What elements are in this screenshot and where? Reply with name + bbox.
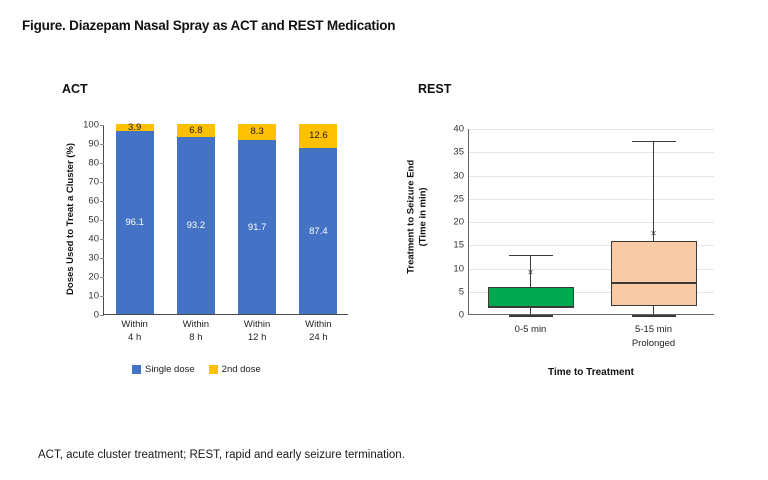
- act-bar-segment-single-dose[interactable]: 93.2: [177, 137, 215, 314]
- act-bar-label-2nd-dose: 12.6: [309, 130, 328, 141]
- act-bar-segment-2nd-dose[interactable]: 6.8: [177, 124, 215, 137]
- rest-y-axis-title: Treatment to Seizure End (Time in min): [406, 129, 430, 304]
- act-y-tick-label: 90: [88, 139, 99, 150]
- act-bar-segment-single-dose[interactable]: 91.7: [238, 140, 276, 314]
- rest-y-tick-label: 15: [453, 240, 464, 251]
- act-y-tick-mark: [100, 277, 104, 278]
- act-y-tick-label: 50: [88, 215, 99, 226]
- act-stacked-bar[interactable]: 8.391.7: [238, 124, 276, 314]
- act-bar-label-single-dose: 96.1: [125, 217, 144, 228]
- act-y-tick-mark: [100, 239, 104, 240]
- act-y-tick-mark: [100, 315, 104, 316]
- act-y-axis-title: Doses Used to Treat a Cluster (%): [65, 124, 77, 314]
- rest-x-category-label: 5-15 min Prolonged: [594, 323, 714, 351]
- act-legend-item[interactable]: 2nd dose: [209, 364, 261, 375]
- rest-x-axis-title: Time to Treatment: [468, 367, 714, 378]
- act-y-tick-label: 40: [88, 234, 99, 245]
- rest-median-line: [611, 282, 697, 284]
- rest-panel-header: REST: [418, 82, 451, 96]
- rest-box-rect[interactable]: [611, 241, 697, 306]
- act-plot-area: 01020304050607080901003.996.1Within 4 h6…: [103, 125, 348, 315]
- act-y-tick-label: 80: [88, 158, 99, 169]
- act-y-tick-mark: [100, 258, 104, 259]
- act-y-tick-label: 60: [88, 196, 99, 207]
- act-y-tick-label: 10: [88, 291, 99, 302]
- act-y-tick-mark: [100, 220, 104, 221]
- act-bar-segment-2nd-dose[interactable]: 12.6: [299, 124, 337, 148]
- act-y-tick-mark: [100, 296, 104, 297]
- rest-y-tick-label: 35: [453, 147, 464, 158]
- legend-swatch-icon: [132, 365, 141, 374]
- rest-x-category-label: 0-5 min: [471, 323, 591, 337]
- legend-swatch-icon: [209, 365, 218, 374]
- act-y-tick-mark: [100, 182, 104, 183]
- rest-y-tick-label: 5: [459, 286, 464, 297]
- act-y-tick-mark: [100, 125, 104, 126]
- act-bar-segment-2nd-dose[interactable]: 3.9: [116, 124, 154, 131]
- act-bar-chart: Doses Used to Treat a Cluster (%) 010203…: [28, 125, 358, 380]
- act-bar-label-single-dose: 91.7: [248, 222, 267, 233]
- act-y-tick-mark: [100, 163, 104, 164]
- act-y-tick-mark: [100, 144, 104, 145]
- figure-footnote: ACT, acute cluster treatment; REST, rapi…: [38, 449, 405, 461]
- act-legend-item[interactable]: Single dose: [132, 364, 195, 375]
- act-bar-label-single-dose: 93.2: [187, 220, 206, 231]
- act-legend-label: Single dose: [145, 364, 195, 375]
- rest-y-tick-label: 0: [459, 310, 464, 321]
- rest-y-tick-label: 40: [453, 124, 464, 135]
- act-legend: Single dose2nd dose: [132, 364, 261, 375]
- rest-whisker-cap-lower: [509, 315, 553, 317]
- rest-y-tick-label: 30: [453, 170, 464, 181]
- act-bar-segment-single-dose[interactable]: 96.1: [116, 131, 154, 314]
- rest-y-tick-label: 25: [453, 193, 464, 204]
- rest-y-tick-label: 20: [453, 217, 464, 228]
- rest-mean-marker-icon: ×: [651, 228, 657, 239]
- act-y-tick-label: 70: [88, 177, 99, 188]
- act-y-tick-label: 20: [88, 272, 99, 283]
- act-bar-segment-2nd-dose[interactable]: 8.3: [238, 124, 276, 140]
- act-bar-label-single-dose: 87.4: [309, 226, 328, 237]
- act-bar-label-2nd-dose: 6.8: [189, 125, 202, 136]
- rest-y-tick-label: 10: [453, 263, 464, 274]
- act-y-tick-label: 30: [88, 253, 99, 264]
- act-bar-label-2nd-dose: 8.3: [251, 126, 264, 137]
- rest-box-chart: Treatment to Seizure End (Time in min) 0…: [382, 125, 742, 385]
- act-stacked-bar[interactable]: 3.996.1: [116, 124, 154, 314]
- act-stacked-bar[interactable]: 6.893.2: [177, 124, 215, 314]
- act-y-tick-mark: [100, 201, 104, 202]
- act-bar-segment-single-dose[interactable]: 87.4: [299, 148, 337, 314]
- page-title: Figure. Diazepam Nasal Spray as ACT and …: [22, 18, 395, 33]
- act-x-category-label: Within 24 h: [281, 319, 355, 345]
- act-panel-header: ACT: [62, 82, 88, 96]
- act-y-tick-label: 100: [83, 120, 99, 131]
- act-stacked-bar[interactable]: 12.687.4: [299, 124, 337, 314]
- rest-plot-area: 0510152025303540×0-5 min×5-15 min Prolon…: [468, 129, 714, 315]
- rest-whisker-cap-lower: [632, 315, 676, 317]
- rest-box-group[interactable]: ×: [469, 129, 715, 314]
- rest-whisker-cap-upper: [632, 141, 676, 143]
- act-legend-label: 2nd dose: [222, 364, 261, 375]
